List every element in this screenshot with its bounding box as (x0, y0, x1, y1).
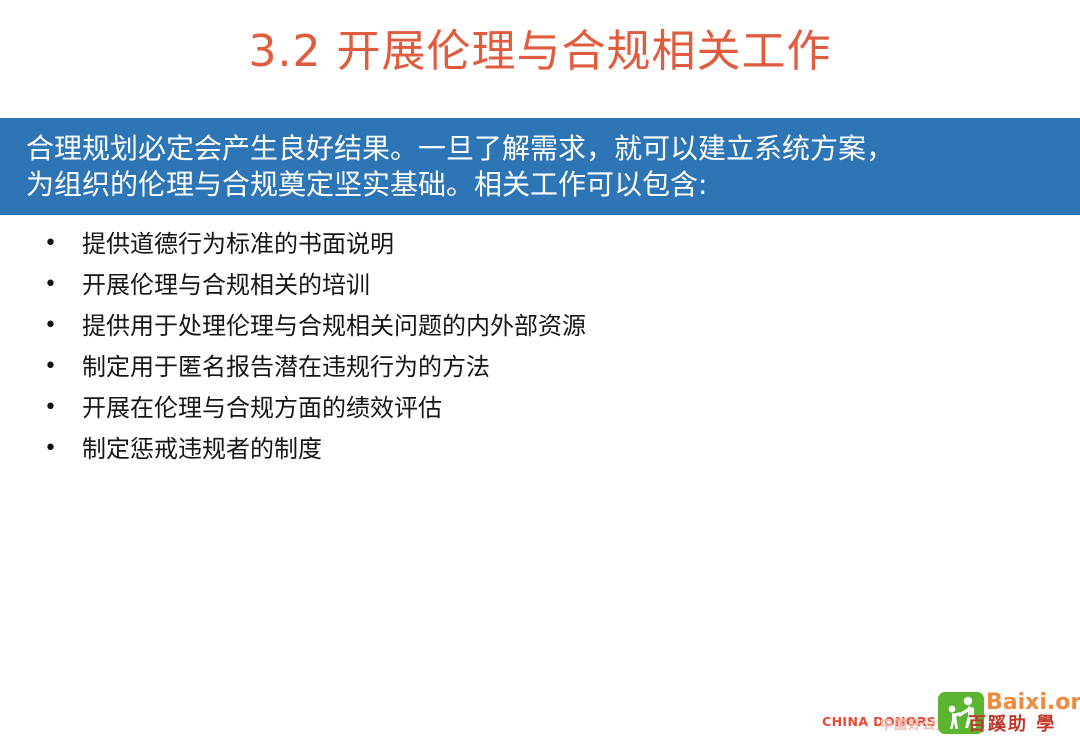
list-item-label: 开展在伦理与合规方面的绩效评估 (82, 392, 442, 424)
bullet-dot-icon: • (0, 310, 82, 342)
bullet-dot-icon: • (0, 269, 82, 301)
list-item-label: 制定惩戒违规者的制度 (82, 433, 322, 465)
list-item-label: 提供用于处理伦理与合规相关问题的内外部资源 (82, 310, 586, 342)
list-item: • 制定用于匿名报告潜在违规行为的方法 (0, 351, 1030, 392)
slide-canvas: 3.2 开展伦理与合规相关工作 合理规划必定会产生良好结果。一旦了解需求，就可以… (0, 0, 1080, 748)
list-item: • 开展在伦理与合规方面的绩效评估 (0, 392, 1030, 433)
baixi-url-text: Baixi.org (986, 691, 1080, 715)
list-item: • 开展伦理与合规相关的培训 (0, 269, 1030, 310)
bullet-list: • 提供道德行为标准的书面说明 • 开展伦理与合规相关的培训 • 提供用于处理伦… (0, 228, 1030, 474)
bullet-dot-icon: • (0, 351, 82, 383)
list-item: • 制定惩戒违规者的制度 (0, 433, 1030, 474)
lead-in-banner: 合理规划必定会产生良好结果。一旦了解需求，就可以建立系统方案， 为组织的伦理与合… (0, 118, 1080, 215)
banner-line-2: 为组织的伦理与合规奠定坚实基础。相关工作可以包含: (26, 167, 1054, 203)
page-title: 3.2 开展伦理与合规相关工作 (0, 22, 1080, 82)
banner-line-1: 合理规划必定会产生良好结果。一旦了解需求，就可以建立系统方案， (26, 131, 1054, 167)
bullet-dot-icon: • (0, 433, 82, 465)
list-item-label: 开展伦理与合规相关的培训 (82, 269, 370, 301)
footer-logo-block: CHINA DONORS R 中国好公益 Baixi.org 百蹊助 學 (822, 688, 1080, 746)
list-item: • 提供用于处理伦理与合规相关问题的内外部资源 (0, 310, 1030, 351)
bullet-dot-icon: • (0, 228, 82, 260)
baixi-chinese-text: 百蹊助 學 (968, 714, 1056, 736)
list-item-label: 制定用于匿名报告潜在违规行为的方法 (82, 351, 490, 383)
baixi-logo: Baixi.org 百蹊助 學 (938, 692, 1080, 742)
list-item: • 提供道德行为标准的书面说明 (0, 228, 1030, 269)
bullet-dot-icon: • (0, 392, 82, 424)
list-item-label: 提供道德行为标准的书面说明 (82, 228, 394, 260)
